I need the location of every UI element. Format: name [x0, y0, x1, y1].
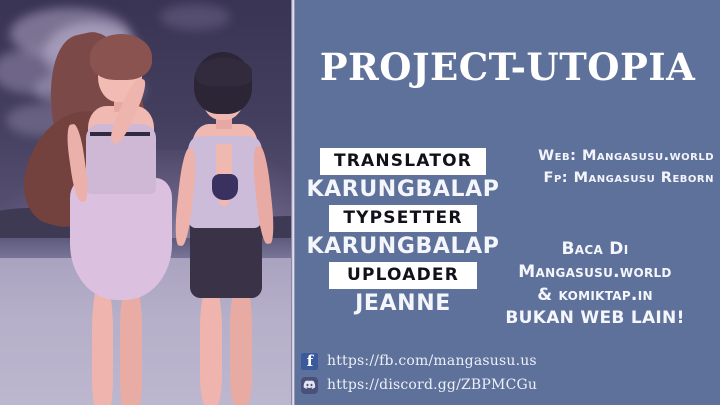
fanpage-line: Fp: Mangasusu Reborn	[470, 167, 714, 189]
leg	[230, 286, 252, 405]
page-title: PROJECT-UTOPIA	[295, 45, 720, 89]
role-label-translator: TRANSLATOR	[320, 148, 486, 175]
credits-panel: PROJECT-UTOPIA TRANSLATOR KARUNGBALAP TY…	[295, 0, 720, 405]
facebook-icon[interactable]: f	[301, 353, 318, 370]
character-left	[62, 28, 180, 405]
website-info: Web: Mangasusu.world Fp: Mangasusu Rebor…	[470, 145, 714, 189]
discord-icon[interactable]	[301, 377, 318, 394]
character-right	[168, 52, 280, 405]
role-name-uploader: JEANNE	[303, 290, 503, 317]
social-row-facebook[interactable]: f https://fb.com/mangasusu.us	[301, 350, 601, 372]
facebook-url[interactable]: https://fb.com/mangasusu.us	[327, 353, 537, 369]
inner-top	[212, 174, 238, 200]
read-here-notice: Baca Di Mangasusu.world & komiktap.in BU…	[475, 238, 715, 330]
leg	[92, 284, 113, 405]
baca-line-3: & komiktap.in	[475, 284, 715, 307]
artwork-panel	[0, 0, 292, 405]
social-row-discord[interactable]: https://discord.gg/ZBPMCGu	[301, 374, 601, 396]
comic-credits-page: PROJECT-UTOPIA TRANSLATOR KARUNGBALAP TY…	[0, 0, 720, 405]
website-line: Web: Mangasusu.world	[470, 145, 714, 167]
social-links: f https://fb.com/mangasusu.us https://di…	[301, 350, 601, 398]
leg	[200, 288, 222, 405]
role-name-typesetter: KARUNGBALAP	[303, 233, 503, 260]
baca-line-1: Baca Di	[475, 238, 715, 261]
leg	[120, 282, 142, 405]
hair-front	[90, 34, 152, 80]
baca-line-4: BUKAN WEB LAIN!	[475, 307, 715, 330]
cloud-shape	[160, 4, 230, 30]
skirt	[190, 220, 262, 298]
role-label-typesetter: TYPSETTER	[329, 205, 477, 232]
discord-url[interactable]: https://discord.gg/ZBPMCGu	[327, 377, 537, 393]
role-label-uploader: UPLOADER	[329, 262, 477, 289]
baca-line-2: Mangasusu.world	[475, 261, 715, 284]
hair-bangs	[196, 58, 252, 86]
